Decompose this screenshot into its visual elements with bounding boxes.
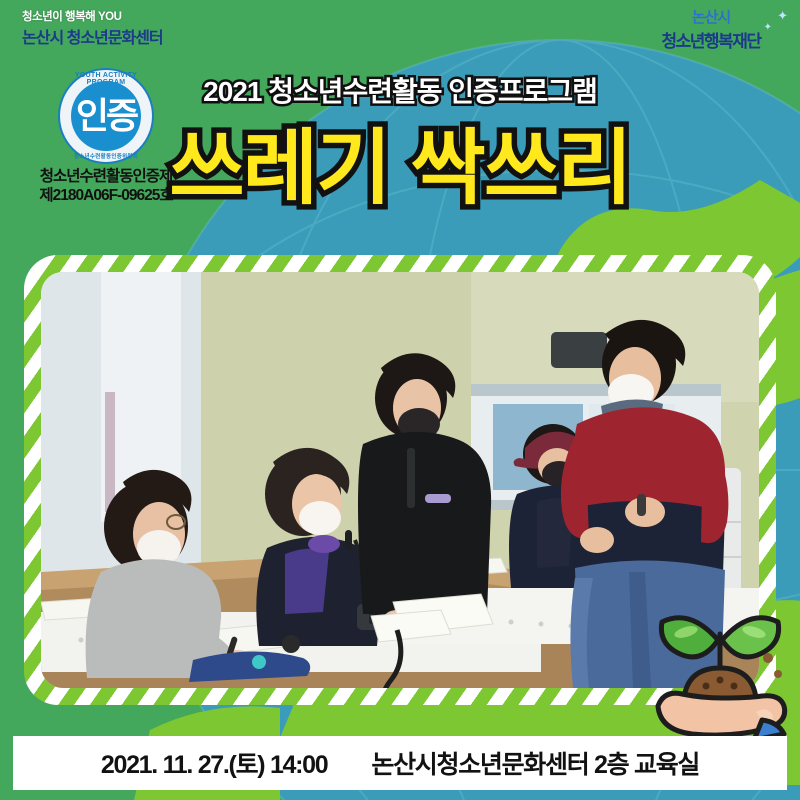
sparkle-icon: ✦: [777, 8, 788, 24]
center-logo-name: 논산시 청소년문화센터: [22, 24, 187, 48]
center-logo-tagline: 청소년이 행복해 YOU: [22, 8, 187, 24]
poster-subtitle: 2021 청소년수련활동 인증프로그램: [0, 70, 800, 110]
foundation-logo: 논산시 청소년행복재단 ✦ ✦: [636, 6, 786, 58]
sparkle-icon: ✦: [764, 22, 772, 33]
footer-bar: 2021. 11. 27.(토) 14:00 논산시청소년문화센터 2층 교육실: [13, 736, 787, 790]
event-datetime: 2021. 11. 27.(토) 14:00: [101, 745, 328, 781]
sprout-illustration: [650, 588, 790, 738]
poster-root: 청소년이 행복해 YOU 논산시 청소년문화센터 논산시 청소년행복재단 ✦ ✦…: [0, 0, 800, 800]
poster-title: 쓰레기 싹쓰리: [0, 122, 800, 216]
event-location: 논산시청소년문화센터 2층 교육실: [371, 745, 699, 781]
center-logo: 청소년이 행복해 YOU 논산시 청소년문화센터: [22, 8, 187, 56]
